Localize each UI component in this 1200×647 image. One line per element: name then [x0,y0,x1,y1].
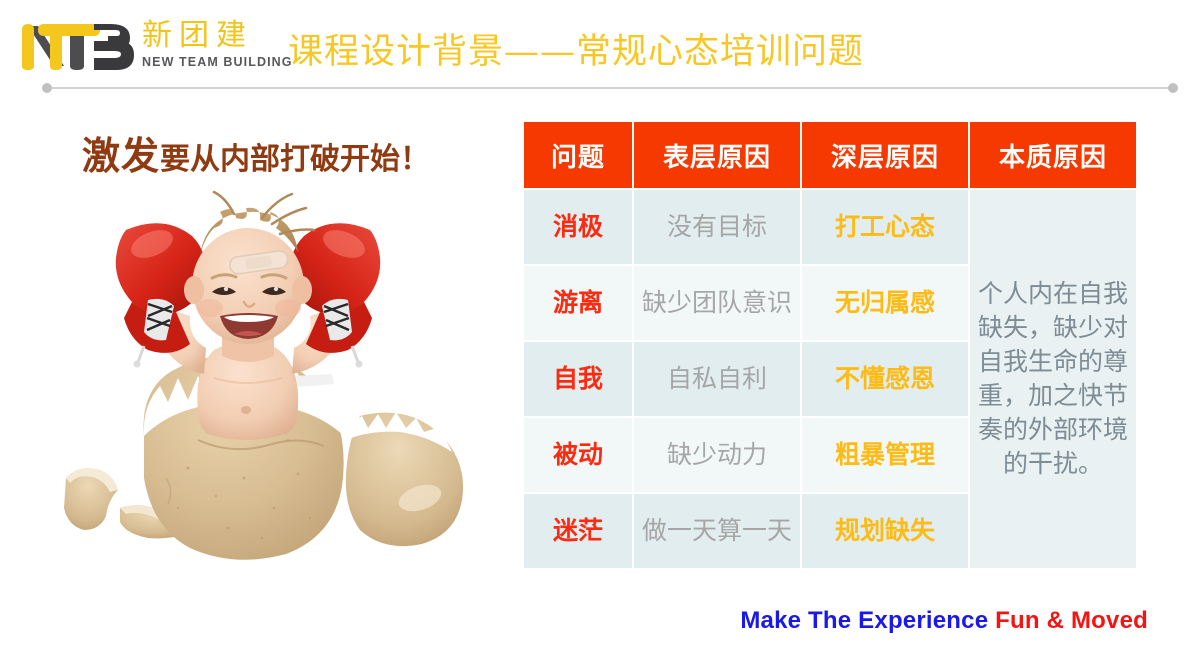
column-header-problem: 问题 [524,122,632,188]
cell-deep-cause: 规划缺失 [802,494,968,568]
column-header-surface-cause: 表层原因 [634,122,800,188]
slide-title: 课程设计背景——常规心态培训问题 [288,28,864,76]
brand-name-en: NEW TEAM BUILDING [142,54,293,70]
heading-rest: 要从内部打破开始！ [160,142,430,177]
cell-surface-cause: 没有目标 [634,190,800,264]
divider-dot-left [42,83,52,93]
tagline-primary: Make The Experience [740,607,988,634]
brand-wordmark: 新团建 NEW TEAM BUILDING [142,16,293,70]
column-header-essential-cause: 本质原因 [970,122,1136,188]
cell-problem: 游离 [524,266,632,340]
cell-surface-cause: 缺少团队意识 [634,266,800,340]
table-row: 消极 没有目标 打工心态 个人内在自我缺失，缺少对自我生命的尊重，加之快节奏的外… [524,190,1136,264]
cell-problem: 自我 [524,342,632,416]
brand-logo[interactable]: 新团建 NEW TEAM BUILDING [18,16,293,74]
slide-header: 新团建 NEW TEAM BUILDING 课程设计背景——常规心态培训问题 [0,0,1200,100]
table-header-row: 问题 表层原因 深层原因 本质原因 [524,122,1136,188]
cell-deep-cause: 打工心态 [802,190,968,264]
tagline-accent: Fun & Moved [995,607,1148,634]
cell-problem: 被动 [524,418,632,492]
causes-matrix-table: 问题 表层原因 深层原因 本质原因 消极 没有目标 打工心态 个人内在自我缺失，… [522,120,1130,566]
header-divider-line [46,87,1172,89]
cell-problem: 迷茫 [524,494,632,568]
ntb-monogram-icon [18,16,136,74]
cell-deep-cause: 无归属感 [802,266,968,340]
cell-surface-cause: 缺少动力 [634,418,800,492]
motivational-heading: 激发要从内部打破开始！ [0,125,512,180]
slide-footer-tagline: Make The Experience Fun & Moved [740,607,1148,635]
cell-surface-cause: 自私自利 [634,342,800,416]
cell-surface-cause: 做一天算一天 [634,494,800,568]
cell-deep-cause: 粗暴管理 [802,418,968,492]
cell-essential-cause: 个人内在自我缺失，缺少对自我生命的尊重，加之快节奏的外部环境的干扰。 [970,190,1136,568]
baby-in-eggshell-with-boxing-gloves-image [48,178,488,578]
column-header-deep-cause: 深层原因 [802,122,968,188]
left-content-panel: 激发要从内部打破开始！ [0,100,512,600]
cell-problem: 消极 [524,190,632,264]
cell-deep-cause: 不懂感恩 [802,342,968,416]
divider-dot-right [1168,83,1178,93]
brand-name-cn: 新团建 [142,19,293,53]
heading-emphasis: 激发 [82,133,160,178]
